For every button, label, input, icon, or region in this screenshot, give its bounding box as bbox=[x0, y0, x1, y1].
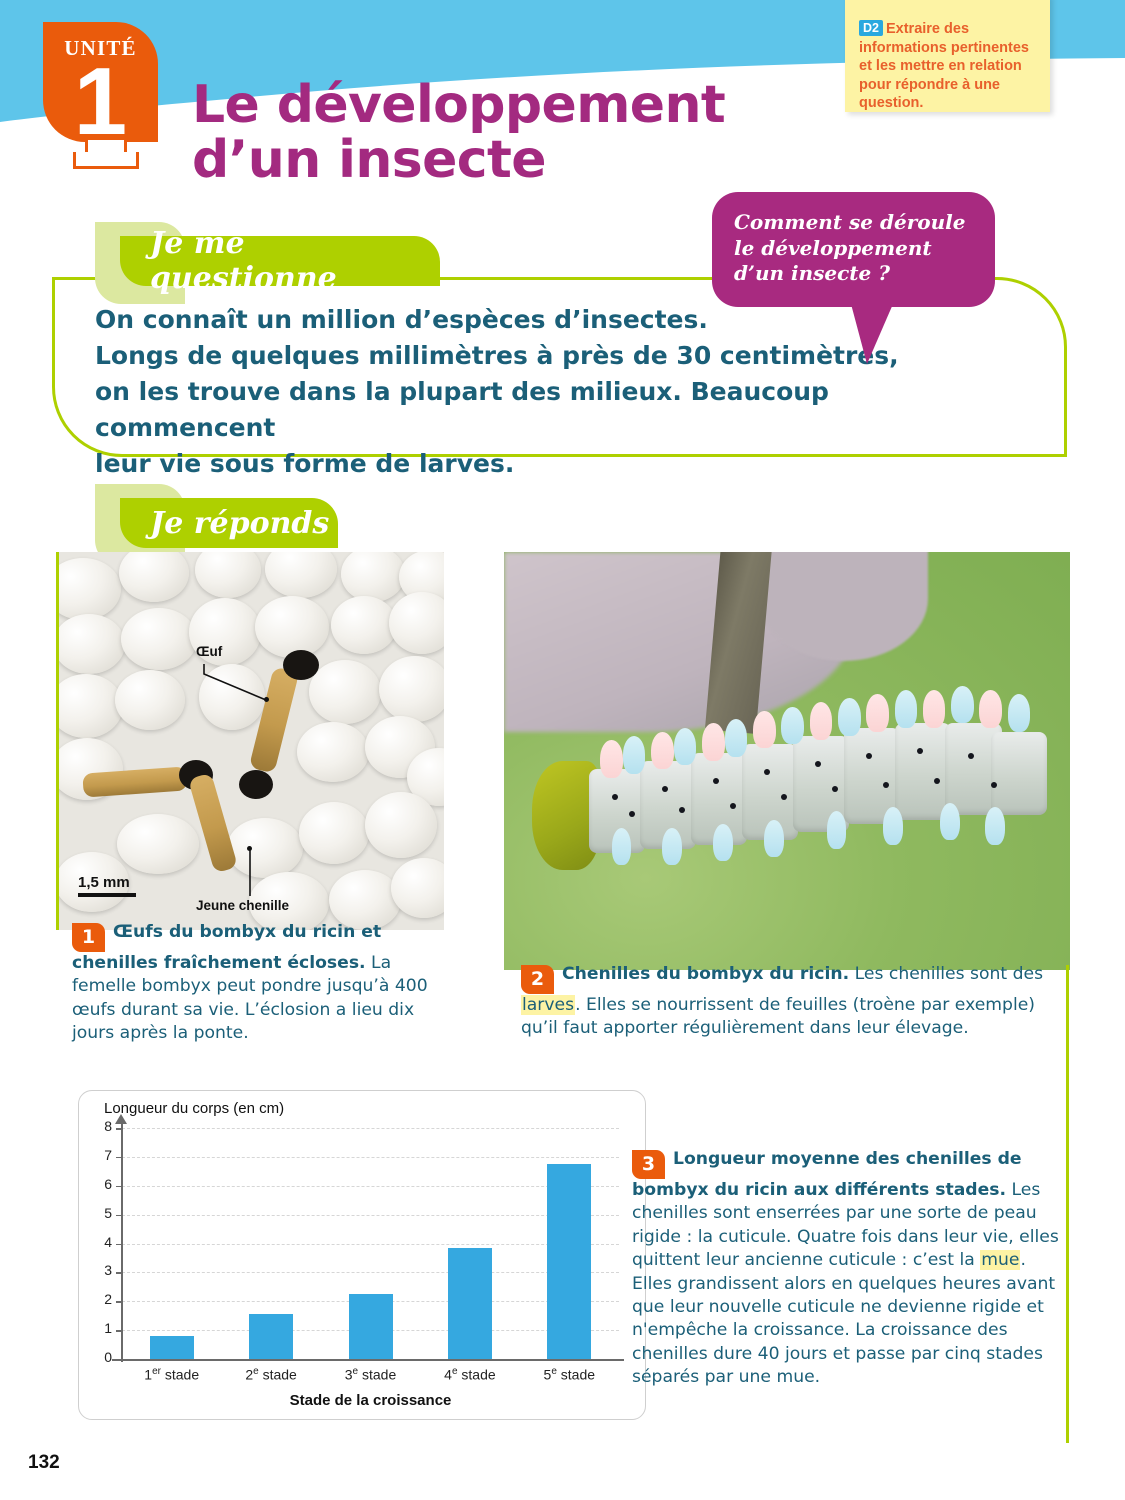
chart-gridline bbox=[122, 1272, 619, 1273]
chart-bar bbox=[150, 1336, 194, 1359]
figure-3-caption-bold: Longueur moyenne des chenilles de bombyx… bbox=[632, 1149, 1022, 1200]
speech-bubble-tail bbox=[851, 304, 893, 364]
figure-2-caption-part1: Les chenilles sont des bbox=[849, 964, 1043, 984]
chart-y-tick-label: 8 bbox=[92, 1118, 112, 1134]
caterpillar-tubercle bbox=[623, 736, 646, 774]
figure-1-caption: 1Œufs du bombyx du ricin et chenilles fr… bbox=[72, 921, 454, 1046]
figure-2-caption-bold: Chenilles du bombyx du ricin. bbox=[562, 964, 849, 984]
intro-line-1: On connaît un million d’espèces d’insect… bbox=[95, 302, 925, 338]
speech-line-3: d’un insecte ? bbox=[734, 261, 973, 287]
chart-y-tick-label: 2 bbox=[92, 1291, 112, 1307]
chart-y-tick-mark bbox=[116, 1157, 123, 1159]
chart-y-tick-label: 6 bbox=[92, 1176, 112, 1192]
caterpillar-leg bbox=[883, 807, 903, 845]
egg-shape bbox=[115, 670, 185, 730]
caterpillar-shape bbox=[188, 773, 238, 874]
egg-shape bbox=[299, 802, 369, 864]
chart-gridline bbox=[122, 1244, 619, 1245]
caterpillar-tubercle bbox=[753, 711, 776, 749]
tab-je-reponds: Je réponds bbox=[120, 498, 338, 548]
caterpillar-tubercle bbox=[951, 686, 974, 724]
caterpillar-tubercle bbox=[866, 694, 889, 732]
caterpillar-tubercle bbox=[979, 690, 1002, 728]
leader-line-chenille bbox=[240, 846, 260, 898]
chart-y-axis-title: Longueur du corps (en cm) bbox=[104, 1100, 284, 1117]
speech-line-1: Comment se déroule bbox=[734, 210, 973, 236]
egg-shape bbox=[255, 596, 329, 658]
caterpillar-tubercle bbox=[923, 690, 946, 728]
caterpillar-leg bbox=[662, 828, 682, 866]
sticky-note-text: Extraire des informations pertinentes et… bbox=[859, 21, 1029, 111]
caterpillar-tubercle bbox=[781, 707, 804, 745]
egg-shape bbox=[309, 660, 381, 724]
figure-2-number-badge: 2 bbox=[521, 965, 554, 994]
egg-shape bbox=[56, 558, 121, 620]
page-title: Le développement d’un insecte bbox=[192, 78, 752, 188]
egg-shape bbox=[56, 674, 123, 738]
caterpillar-spot bbox=[934, 778, 940, 784]
egg-shape bbox=[331, 596, 397, 654]
right-vertical-rule bbox=[1066, 965, 1069, 1443]
figure-3-caption-highlight: mue bbox=[980, 1250, 1020, 1270]
chart-bar bbox=[547, 1164, 591, 1359]
chart-bar bbox=[249, 1314, 293, 1359]
caterpillar-tubercle bbox=[810, 702, 833, 740]
leader-dot-chenille bbox=[247, 846, 252, 851]
caterpillar-spot bbox=[991, 782, 997, 788]
caterpillar-spot bbox=[629, 811, 635, 817]
egg-shape bbox=[341, 552, 405, 602]
figure-3-number-badge: 3 bbox=[632, 1150, 665, 1179]
chart-gridline bbox=[122, 1186, 619, 1187]
intro-line-4: leur vie sous forme de larves. bbox=[95, 446, 925, 482]
x-axis-line bbox=[112, 1359, 624, 1361]
caterpillar-tubercle bbox=[600, 740, 623, 778]
egg-shape bbox=[297, 722, 369, 782]
chart-y-tick-mark bbox=[116, 1244, 123, 1246]
label-jeune-chenille: Jeune chenille bbox=[196, 898, 289, 913]
caterpillar-head bbox=[283, 650, 319, 680]
chart-x-tick-label: 2e stade bbox=[221, 1366, 321, 1383]
page-title-line2: d’un insecte bbox=[192, 133, 752, 188]
egg-shape bbox=[195, 552, 261, 598]
chart-gridline bbox=[122, 1215, 619, 1216]
caterpillar-spot bbox=[968, 753, 974, 759]
egg-shape bbox=[365, 792, 437, 858]
scale-bar-rule bbox=[78, 893, 136, 897]
figure-2-caption-part2: . Elles se nourrissent de feuilles (troè… bbox=[521, 995, 1035, 1038]
caterpillar-leg bbox=[827, 811, 847, 849]
chart-y-tick-mark bbox=[116, 1272, 123, 1274]
chart-y-tick-mark bbox=[116, 1128, 123, 1130]
chart-bar bbox=[448, 1248, 492, 1359]
chart-gridline bbox=[122, 1157, 619, 1158]
chart-y-tick-mark bbox=[116, 1186, 123, 1188]
chart-y-tick-label: 7 bbox=[92, 1147, 112, 1163]
caterpillar-leg bbox=[985, 807, 1005, 845]
competency-sticky-note: D2Extraire des informations pertinentes … bbox=[845, 0, 1050, 112]
figure-3-caption-part2: . Elles grandissent alors en quelques he… bbox=[632, 1250, 1055, 1387]
egg-shape bbox=[227, 818, 303, 878]
scale-bar: 1,5 mm bbox=[78, 874, 136, 897]
chart-x-axis-title: Stade de la croissance bbox=[122, 1392, 619, 1409]
caterpillar-tubercle bbox=[1008, 694, 1031, 732]
chart-y-tick-label: 0 bbox=[92, 1349, 112, 1365]
tab-questionne-label: Je me questionne bbox=[150, 226, 440, 296]
tab-reponds-label: Je réponds bbox=[150, 506, 329, 541]
chart-y-tick-label: 1 bbox=[92, 1320, 112, 1336]
chart-title-unit: (en cm) bbox=[233, 1100, 284, 1117]
figure-2-photo-caterpillar bbox=[504, 552, 1070, 970]
intro-line-2: Longs de quelques millimètres à près de … bbox=[95, 338, 925, 374]
label-oeuf: Œuf bbox=[196, 644, 222, 659]
chart-x-tick-label: 4e stade bbox=[420, 1366, 520, 1383]
sticky-note-body: D2Extraire des informations pertinentes … bbox=[859, 20, 1036, 113]
page-number: 132 bbox=[28, 1452, 60, 1474]
scale-bar-label: 1,5 mm bbox=[78, 874, 136, 891]
egg-shape bbox=[389, 592, 444, 654]
caterpillar-leg bbox=[713, 824, 733, 862]
intro-line-3: on les trouve dans la plupart des milieu… bbox=[95, 374, 925, 446]
egg-shape bbox=[117, 814, 199, 874]
chart-y-tick-label: 4 bbox=[92, 1234, 112, 1250]
chart-x-tick-label: 1er stade bbox=[122, 1366, 222, 1383]
caterpillar-spot bbox=[866, 753, 872, 759]
caterpillar-leg bbox=[764, 820, 784, 858]
leader-dot-oeuf bbox=[264, 697, 269, 702]
chart-y-tick-mark bbox=[116, 1330, 123, 1332]
chart-bar bbox=[349, 1294, 393, 1359]
intro-text: On connaît un million d’espèces d’insect… bbox=[95, 302, 925, 482]
chart-gridline bbox=[122, 1128, 619, 1129]
caterpillar-tubercle bbox=[895, 690, 918, 728]
caterpillar-leg bbox=[612, 828, 632, 866]
chart-plot-area bbox=[122, 1128, 619, 1359]
page-title-line1: Le développement bbox=[192, 78, 752, 133]
chart-y-tick-label: 3 bbox=[92, 1262, 112, 1278]
egg-shape bbox=[265, 552, 337, 598]
figure-3-caption: 3Longueur moyenne des chenilles de bomby… bbox=[632, 1148, 1062, 1390]
egg-shape bbox=[121, 608, 197, 670]
caterpillar-leg bbox=[940, 803, 960, 841]
caterpillar-segment bbox=[895, 723, 952, 819]
caterpillar-tubercle bbox=[674, 728, 697, 766]
caterpillar-tubercle bbox=[838, 698, 861, 736]
egg-shape bbox=[56, 614, 125, 674]
speech-line-2: le développement bbox=[734, 236, 973, 262]
chart-y-tick-mark bbox=[116, 1215, 123, 1217]
caterpillar-tubercle bbox=[725, 719, 748, 757]
egg-shape bbox=[119, 552, 189, 602]
egg-shape bbox=[379, 656, 444, 722]
chart-x-tick-label: 3e stade bbox=[321, 1366, 421, 1383]
tab-je-me-questionne: Je me questionne bbox=[120, 236, 440, 286]
speech-bubble-question: Comment se déroule le développement d’un… bbox=[712, 192, 995, 307]
figure-2-caption-highlight: larves bbox=[521, 995, 575, 1015]
caterpillar-tubercle bbox=[651, 732, 674, 770]
caterpillar-tubercle bbox=[702, 723, 725, 761]
chart-y-tick-mark bbox=[116, 1301, 123, 1303]
chart-y-tick-mark bbox=[116, 1359, 123, 1361]
caterpillar-segment bbox=[991, 732, 1048, 816]
figure-1-caption-bold: Œufs du bombyx du ricin et chenilles fra… bbox=[72, 922, 381, 973]
figure-2-caption: 2Chenilles du bombyx du ricin. Les cheni… bbox=[521, 963, 1066, 1041]
d2-chip: D2 bbox=[859, 20, 883, 36]
figure-1-number-badge: 1 bbox=[72, 923, 105, 952]
caterpillar-head bbox=[239, 770, 273, 799]
unite-number: 1 bbox=[43, 54, 158, 150]
chart-y-tick-label: 5 bbox=[92, 1205, 112, 1221]
chart-x-tick-label: 5e stade bbox=[519, 1366, 619, 1383]
